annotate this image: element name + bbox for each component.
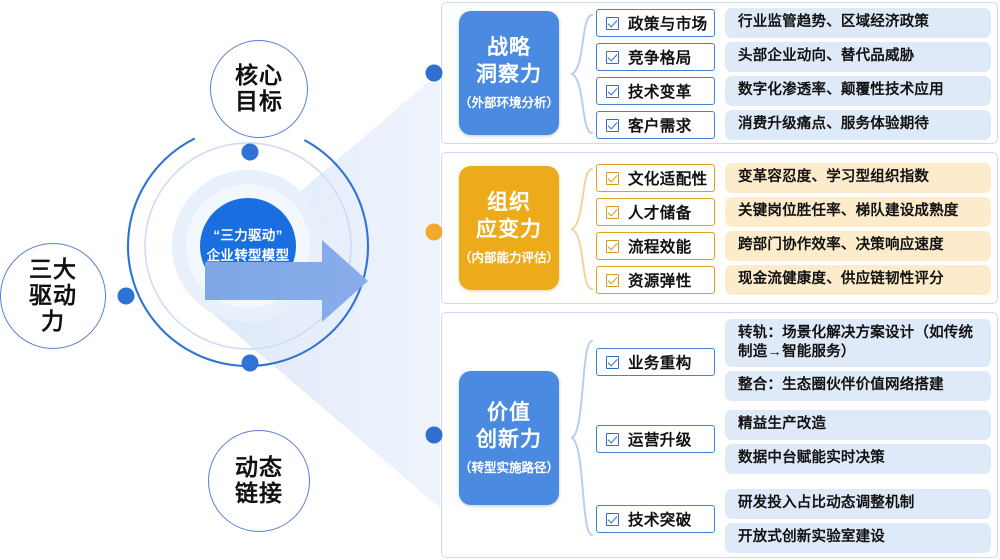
description-pill: 精益生产改造 (725, 410, 991, 440)
check-icon[interactable] (606, 51, 619, 64)
description-text: 现金流健康度、供应链韧性评分 (738, 270, 944, 289)
check-icon[interactable] (606, 17, 619, 30)
orbit-node-left (118, 288, 135, 305)
description-pill: 开放式创新实验室建设 (725, 523, 991, 553)
check-icon[interactable] (606, 240, 619, 253)
checkbox-label: 客户需求 (628, 114, 692, 136)
pillar-1-line2: 应变力 (476, 217, 542, 244)
checkbox-item-process-efficiency[interactable]: 流程效能 (596, 232, 715, 260)
description-text: 数字化渗透率、颠覆性技术应用 (738, 81, 944, 100)
checkbox-label: 人才储备 (628, 201, 692, 223)
orbit-node-bottom (242, 355, 259, 372)
check-icon[interactable] (606, 513, 619, 526)
checkbox-label: 竞争格局 (628, 46, 692, 68)
three-drivers-line2: 驱动 (29, 283, 77, 309)
dynamic-link-line2: 链接 (235, 481, 283, 507)
description-text: 整合：生态圈伙伴价值网络搭建 (738, 376, 944, 395)
description-pill: 转轨：场景化解决方案设计（如传统制造→智能服务） (725, 319, 991, 367)
description-text: 精益生产改造 (738, 415, 826, 434)
brace-icon-panel-1 (569, 167, 595, 291)
checkbox-item-operations-upgrade[interactable]: 运营升级 (596, 425, 715, 453)
checkbox-label: 业务重构 (628, 351, 692, 373)
check-icon[interactable] (606, 172, 619, 185)
description-text: 数据中台赋能实时决策 (738, 449, 885, 468)
check-icon[interactable] (606, 119, 619, 132)
description-text: 消费升级痛点、服务体验期待 (738, 115, 929, 134)
pillar-1-line1: 组织 (487, 190, 531, 217)
check-icon[interactable] (606, 274, 619, 287)
check-icon[interactable] (606, 85, 619, 98)
brace-icon-panel-0 (569, 13, 595, 135)
description-pill: 变革容忍度、学习型组织指数 (725, 163, 991, 193)
checkbox-label: 政策与市场 (628, 12, 708, 34)
pillar-1-subtitle: （内部能力评估） (459, 247, 559, 266)
checkbox-item-resource-elasticity[interactable]: 资源弹性 (596, 266, 715, 294)
description-pill: 消费升级痛点、服务体验期待 (725, 110, 991, 140)
checkbox-label: 技术变革 (628, 80, 692, 102)
description-text: 研发投入占比动态调整机制 (738, 494, 914, 513)
checkbox-label: 技术突破 (628, 508, 692, 530)
core-goal-line2: 目标 (235, 89, 283, 115)
checkbox-item-customer-demand[interactable]: 客户需求 (596, 111, 715, 139)
description-text: 头部企业动向、替代品威胁 (738, 47, 914, 66)
dynamic-link-line1: 动态 (235, 455, 283, 481)
pillar-value-innovation[interactable]: 价值 创新力 （转型实施路径） (459, 371, 559, 505)
pillar-0-line1: 战略 (487, 35, 531, 62)
pillar-0-subtitle: （外部环境分析） (459, 92, 559, 111)
description-pill: 数字化渗透率、颠覆性技术应用 (725, 76, 991, 106)
description-text: 转轨：场景化解决方案设计（如传统制造→智能服务） (738, 324, 978, 362)
orbit-circle-core-goal[interactable]: 核心 目标 (210, 40, 308, 138)
checkbox-item-talent-reserve[interactable]: 人才储备 (596, 198, 715, 226)
pillar-organizational-adaptability[interactable]: 组织 应变力 （内部能力评估） (459, 166, 559, 290)
panel-strategic-insight: 战略 洞察力 （外部环境分析） 政策与市场 行业监管趋势、区域经济政策 竞争格局… (441, 2, 998, 144)
panel-organizational-adaptability: 组织 应变力 （内部能力评估） 文化适配性 变革容忍度、学习型组织指数 人才储备… (441, 152, 998, 304)
hub-group: 核心 目标 三大 驱动 力 动态 链接 “三力驱动” 企业转型模型 (0, 0, 440, 560)
pillar-0-line2: 洞察力 (476, 62, 542, 89)
three-drivers-line1: 三大 (29, 257, 77, 283)
orbit-node-top (242, 144, 259, 161)
description-pill: 头部企业动向、替代品威胁 (725, 42, 991, 72)
check-icon[interactable] (606, 433, 619, 446)
diagram-canvas: 核心 目标 三大 驱动 力 动态 链接 “三力驱动” 企业转型模型 战略 (0, 0, 1000, 560)
checkbox-item-technology-breakthrough[interactable]: 技术突破 (596, 505, 715, 533)
description-pill: 整合：生态圈伙伴价值网络搭建 (725, 371, 991, 401)
description-text: 变革容忍度、学习型组织指数 (738, 168, 929, 187)
checkbox-label: 流程效能 (628, 235, 692, 257)
checkbox-item-business-restructuring[interactable]: 业务重构 (596, 348, 715, 376)
description-text: 开放式创新实验室建设 (738, 528, 885, 547)
pillar-strategic-insight[interactable]: 战略 洞察力 （外部环境分析） (459, 11, 559, 135)
orbit-circle-three-drivers[interactable]: 三大 驱动 力 (0, 243, 106, 349)
pillar-2-line2: 创新力 (476, 427, 542, 454)
checkbox-item-competitive-landscape[interactable]: 竞争格局 (596, 43, 715, 71)
panel-value-innovation: 价值 创新力 （转型实施路径） 业务重构 转轨：场景化解决方案设计（如传统制造→… (441, 312, 998, 558)
pillar-2-line1: 价值 (487, 400, 531, 427)
brace-icon-panel-2 (569, 339, 595, 537)
description-pill: 现金流健康度、供应链韧性评分 (725, 265, 991, 295)
orbit-circle-dynamic-link[interactable]: 动态 链接 (208, 430, 310, 532)
description-text: 行业监管趋势、区域经济政策 (738, 13, 929, 32)
three-drivers-line3: 力 (29, 309, 77, 335)
checkbox-label: 运营升级 (628, 428, 692, 450)
checkbox-label: 文化适配性 (628, 167, 708, 189)
pillar-2-subtitle: （转型实施路径） (459, 457, 559, 476)
check-icon[interactable] (606, 206, 619, 219)
checkbox-item-cultural-fit[interactable]: 文化适配性 (596, 164, 715, 192)
checkbox-item-policy-market[interactable]: 政策与市场 (596, 9, 715, 37)
description-pill: 行业监管趋势、区域经济政策 (725, 8, 991, 38)
description-pill: 数据中台赋能实时决策 (725, 444, 991, 474)
description-text: 关键岗位胜任率、梯队建设成熟度 (738, 202, 959, 221)
description-pill: 研发投入占比动态调整机制 (725, 489, 991, 519)
description-pill: 跨部门协作效率、决策响应速度 (725, 231, 991, 261)
description-text: 跨部门协作效率、决策响应速度 (738, 236, 944, 255)
checkbox-label: 资源弹性 (628, 269, 692, 291)
core-goal-line1: 核心 (235, 63, 283, 89)
description-pill: 关键岗位胜任率、梯队建设成熟度 (725, 197, 991, 227)
check-icon[interactable] (606, 356, 619, 369)
checkbox-item-technology-change[interactable]: 技术变革 (596, 77, 715, 105)
